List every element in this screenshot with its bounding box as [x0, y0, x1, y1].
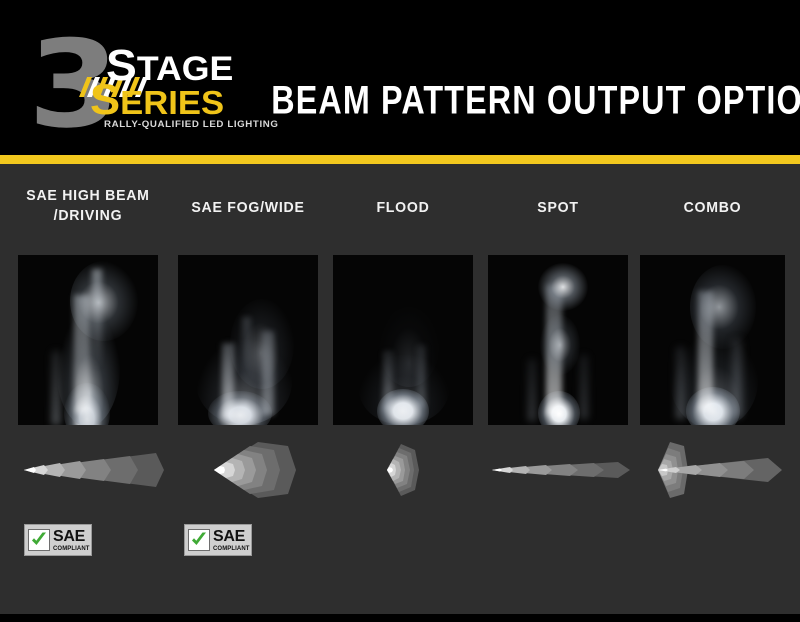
logo-series-rest: ERIES [120, 84, 224, 121]
footer-strip [0, 614, 800, 622]
logo-stage-rest: TAGE [137, 50, 234, 88]
sae-badge-main: SAE [213, 529, 250, 545]
sae-badge-sub: COMPLIANT [53, 546, 90, 552]
sae-badge-text: SAE COMPLIANT [53, 529, 90, 552]
beam-photo-spot [488, 255, 628, 425]
page-title: BEAM PATTERN OUTPUT OPTIONS [271, 78, 775, 123]
beam-title-sae-high-beam-driving: SAE HIGH BEAM /DRIVING [22, 186, 154, 226]
beam-column-sae-high-beam-driving: SAE HIGH BEAM /DRIVING [18, 164, 158, 614]
beam-title-line1: SAE HIGH BEAM [26, 187, 149, 204]
sae-compliant-badge-fog-wide: SAE COMPLIANT [184, 524, 252, 556]
beam-title-spot: SPOT [492, 198, 624, 218]
beam-title-line1: SPOT [537, 199, 578, 216]
beam-photo-sae-fog-wide [178, 255, 318, 425]
logo-tagline: RALLY-QUALIFIED LED LIGHTING [104, 119, 279, 130]
beam-title-line2: /DRIVING [54, 207, 123, 224]
checkmark-icon [188, 529, 210, 551]
sae-badge-sub: COMPLIANT [213, 546, 250, 552]
beam-title-sae-fog-wide: SAE FOG/WIDE [182, 198, 314, 218]
sae-compliant-badge-driving: SAE COMPLIANT [24, 524, 92, 556]
beam-pattern-infographic: 3 STAGE SERIES RALLY-QUALIFIED LED LIGHT… [0, 0, 800, 622]
logo-word-stage: STAGE [106, 49, 233, 86]
stage-series-logo: 3 STAGE SERIES RALLY-QUALIFIED LED LIGHT… [28, 22, 248, 137]
logo-word-series: SERIES [90, 84, 224, 119]
beam-options-grid: SAE HIGH BEAM /DRIVING [0, 164, 800, 614]
beam-photo-combo [640, 255, 785, 425]
beam-column-combo: COMBO [640, 164, 785, 614]
beam-diagram-sae-fog-wide [192, 440, 342, 500]
beam-title-line1: COMBO [684, 199, 742, 216]
checkmark-icon [28, 529, 50, 551]
beam-diagram-combo [640, 440, 790, 500]
sae-badge-text: SAE COMPLIANT [213, 529, 250, 552]
beam-photo-sae-high-beam-driving [18, 255, 158, 425]
logo-series-initial: S [90, 76, 120, 124]
beam-column-flood: FLOOD [333, 164, 473, 614]
beam-title-combo: COMBO [644, 198, 780, 218]
yellow-divider-bar [0, 155, 800, 164]
beam-title-flood: FLOOD [337, 198, 469, 218]
beam-title-line1: SAE FOG/WIDE [191, 199, 304, 216]
header-bar: 3 STAGE SERIES RALLY-QUALIFIED LED LIGHT… [0, 0, 800, 155]
sae-badge-main: SAE [53, 529, 90, 545]
beam-diagram-spot [488, 440, 638, 500]
beam-title-line1: FLOOD [376, 199, 429, 216]
beam-photo-flood [333, 255, 473, 425]
beam-column-spot: SPOT [488, 164, 628, 614]
beam-diagram-sae-high-beam-driving [18, 440, 168, 500]
beam-column-sae-fog-wide: SAE FOG/WIDE [178, 164, 318, 614]
